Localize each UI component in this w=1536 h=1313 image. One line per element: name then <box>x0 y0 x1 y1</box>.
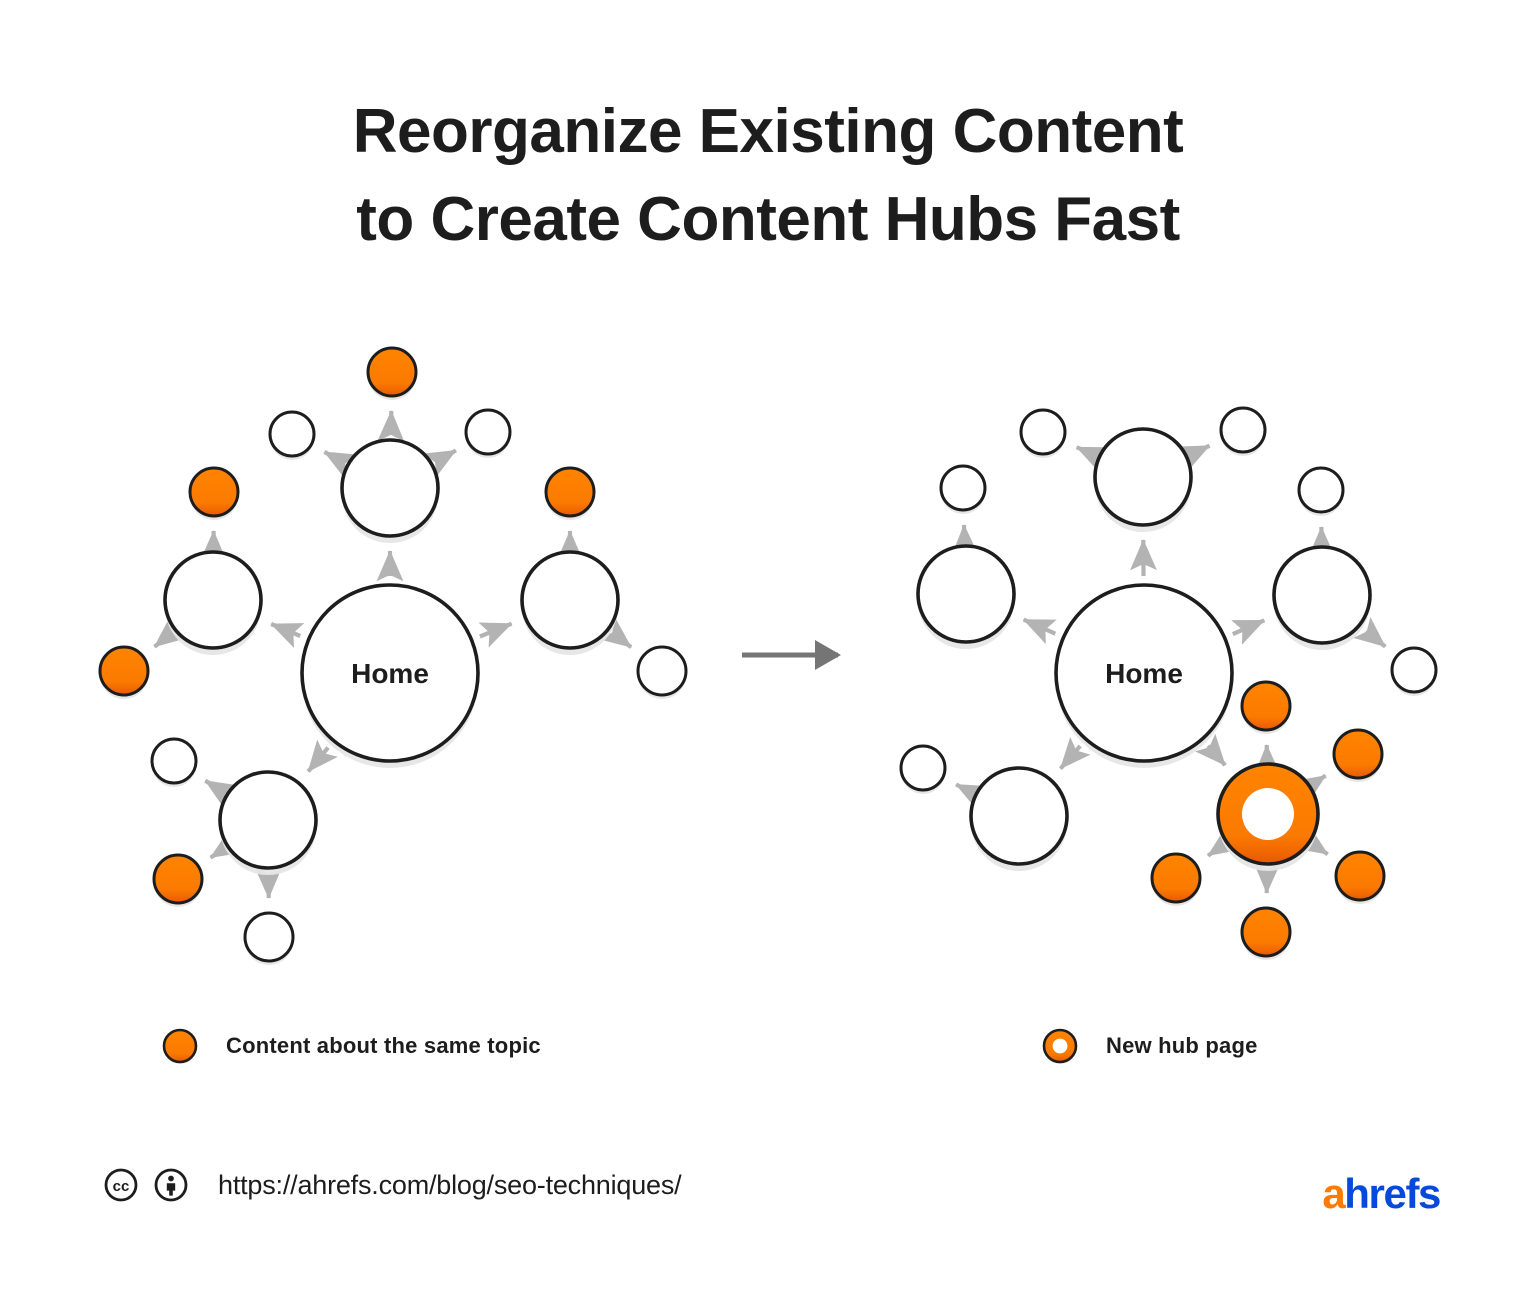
node-b-bot-b[interactable] <box>245 913 293 965</box>
svg-text:cc: cc <box>113 1178 130 1195</box>
node-body <box>1021 410 1065 454</box>
node-b-bot-l[interactable] <box>152 739 196 787</box>
edge-b-top-to-b-top-l <box>324 452 340 461</box>
node-body <box>342 440 438 536</box>
edge-home2-to-a-bot <box>1061 746 1081 769</box>
node-body <box>368 348 416 396</box>
node-b-top-r[interactable] <box>466 410 510 458</box>
node-b-right-t-topic[interactable] <box>546 468 594 520</box>
edge-a-bot-to-a-bot-l <box>956 785 968 791</box>
node-body <box>941 466 985 510</box>
node-a-right-r[interactable] <box>1392 648 1436 696</box>
edge-b-left-to-b-left-l <box>155 636 169 647</box>
edge-home-to-b-right <box>480 624 512 637</box>
node-b-top-t-topic[interactable] <box>368 348 416 400</box>
node-body <box>901 746 945 790</box>
node-body <box>971 768 1067 864</box>
node-label-home: Home <box>351 658 429 689</box>
node-body <box>638 647 686 695</box>
node-label-home: Home <box>1105 658 1183 689</box>
node-body <box>1095 429 1191 525</box>
node-b-left-l-topic[interactable] <box>100 647 148 699</box>
network-diagram: HomeHome <box>0 320 1536 980</box>
node-a-bot-l[interactable] <box>901 746 945 794</box>
node-body <box>918 546 1014 642</box>
node-a-left-t[interactable] <box>941 466 985 514</box>
node-b-right-r[interactable] <box>638 647 686 699</box>
node-home2[interactable]: Home <box>1056 585 1232 768</box>
node-hub-hub[interactable] <box>1218 764 1318 871</box>
node-h-bot-topic[interactable] <box>1242 908 1290 960</box>
node-body <box>1242 908 1290 956</box>
node-b-bot-tl-topic[interactable] <box>154 855 202 907</box>
source-url[interactable]: https://ahrefs.com/blog/seo-techniques/ <box>218 1170 681 1201</box>
node-b-top[interactable] <box>342 440 438 543</box>
node-a-top[interactable] <box>1095 429 1191 532</box>
node-a-top-l[interactable] <box>1021 410 1065 458</box>
solid-orange-circle-icon <box>160 1026 200 1066</box>
edge-b-bot-to-b-bot-l <box>205 781 219 790</box>
legend-item-topic: Content about the same topic <box>160 1026 541 1066</box>
node-body <box>546 468 594 516</box>
node-a-right-t[interactable] <box>1299 468 1343 516</box>
node-body <box>152 739 196 783</box>
edge-b-right-to-b-right-r <box>615 635 631 647</box>
footer: cc https://ahrefs.com/blog/seo-technique… <box>0 1168 1536 1238</box>
ahrefs-logo-accent: a <box>1322 1170 1344 1217</box>
node-body <box>1242 682 1290 730</box>
node-b-top-l[interactable] <box>270 412 314 460</box>
node-body <box>100 647 148 695</box>
node-body <box>1392 648 1436 692</box>
edge-a-top-to-a-top-r <box>1195 446 1210 453</box>
cc-icon: cc <box>104 1168 138 1202</box>
node-body <box>1336 852 1384 900</box>
cc-by-icon <box>154 1168 188 1202</box>
diagram-canvas: HomeHome <box>0 320 1536 980</box>
edge-b-bot-to-b-bot-tl <box>211 851 221 857</box>
node-body <box>154 855 202 903</box>
node-body <box>1274 547 1370 643</box>
node-body <box>190 468 238 516</box>
node-body <box>466 410 510 454</box>
edge-home2-to-a-left <box>1024 620 1056 634</box>
legend-label-topic: Content about the same topic <box>226 1033 541 1059</box>
edge-home2-to-hub <box>1208 746 1225 765</box>
node-home[interactable]: Home <box>302 585 478 768</box>
node-body <box>1152 854 1200 902</box>
node-body <box>270 412 314 456</box>
node-h-ur-topic[interactable] <box>1334 730 1382 782</box>
node-h-lr-topic[interactable] <box>1336 852 1384 904</box>
footer-left: cc https://ahrefs.com/blog/seo-technique… <box>104 1168 681 1202</box>
node-b-left[interactable] <box>165 552 261 655</box>
node-body <box>245 913 293 961</box>
node-body <box>1334 730 1382 778</box>
node-b-right[interactable] <box>522 552 618 655</box>
node-body <box>220 772 316 868</box>
edge-home-to-b-left <box>271 624 300 636</box>
edge-hub-to-h-ur <box>1317 776 1326 782</box>
node-body <box>165 552 261 648</box>
hub-inner-hole <box>1242 788 1294 840</box>
ahrefs-logo: ahrefs <box>1322 1170 1440 1218</box>
legend-item-hub: New hub page <box>1040 1026 1258 1066</box>
node-body <box>522 552 618 648</box>
page-title-line-1: Reorganize Existing Content <box>0 88 1536 176</box>
edge-a-top-to-a-top-l <box>1077 447 1091 453</box>
page-title-line-2: to Create Content Hubs Fast <box>0 176 1536 264</box>
edge-b-top-to-b-top-r <box>440 450 456 459</box>
node-a-left[interactable] <box>918 546 1014 649</box>
node-a-right[interactable] <box>1274 547 1370 650</box>
node-body <box>1299 468 1343 512</box>
edge-hub-to-h-lr <box>1317 847 1328 854</box>
legend-label-hub: New hub page <box>1106 1033 1258 1059</box>
edge-home-to-b-bot <box>308 748 328 772</box>
node-a-top-r[interactable] <box>1221 408 1265 456</box>
node-h-ll-topic[interactable] <box>1152 854 1200 906</box>
edge-home2-to-a-right <box>1233 620 1265 634</box>
node-b-bot[interactable] <box>220 772 316 875</box>
node-body <box>1221 408 1265 452</box>
ahrefs-logo-rest: hrefs <box>1344 1170 1440 1217</box>
orange-ring-circle-icon <box>1040 1026 1080 1066</box>
node-a-bot[interactable] <box>971 768 1067 871</box>
edge-hub-to-h-ll <box>1208 848 1220 856</box>
node-b-left-t-topic[interactable] <box>190 468 238 520</box>
edge-a-right-to-a-right-r <box>1366 631 1385 647</box>
node-h-top-topic[interactable] <box>1242 682 1290 734</box>
page-title: Reorganize Existing Content to Create Co… <box>0 88 1536 264</box>
